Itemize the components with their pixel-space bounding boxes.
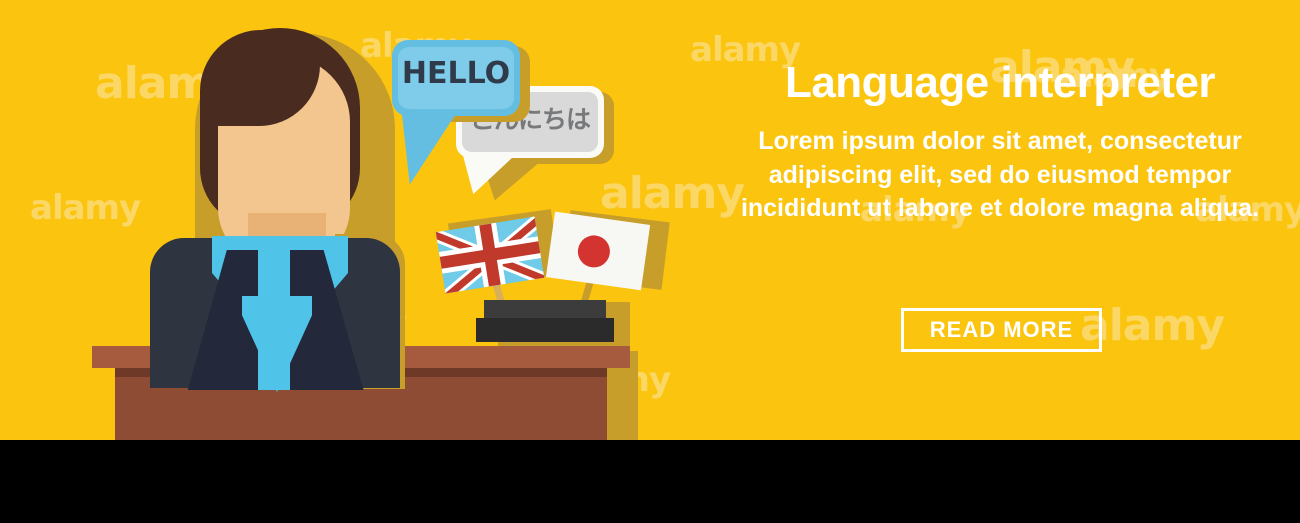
illustration: こんにちは HELLO xyxy=(0,0,700,440)
text-panel: Language interpreter Lorem ipsum dolor s… xyxy=(700,0,1300,440)
page-title: Language interpreter xyxy=(700,58,1300,108)
interpreter-figure xyxy=(150,28,380,358)
japan-flag-sun-disc xyxy=(576,233,612,269)
body-text: Lorem ipsum dolor sit amet, consectetur … xyxy=(740,125,1260,226)
read-more-button[interactable]: READ MORE xyxy=(901,308,1102,352)
screenshot-root: alamy alamy alamy alamy alamy alamy alam… xyxy=(0,0,1300,523)
banner: alamy alamy alamy alamy alamy alamy alam… xyxy=(0,0,1300,440)
japan-flag xyxy=(546,212,650,291)
alamy-footer-bar: alamy Image ID: K08CH5 www.alamy.com xyxy=(0,440,1300,523)
flag-stand-lower xyxy=(476,318,614,342)
speech-bubble-english-text: HELLO xyxy=(398,56,514,91)
flag-stand-upper xyxy=(484,300,606,318)
